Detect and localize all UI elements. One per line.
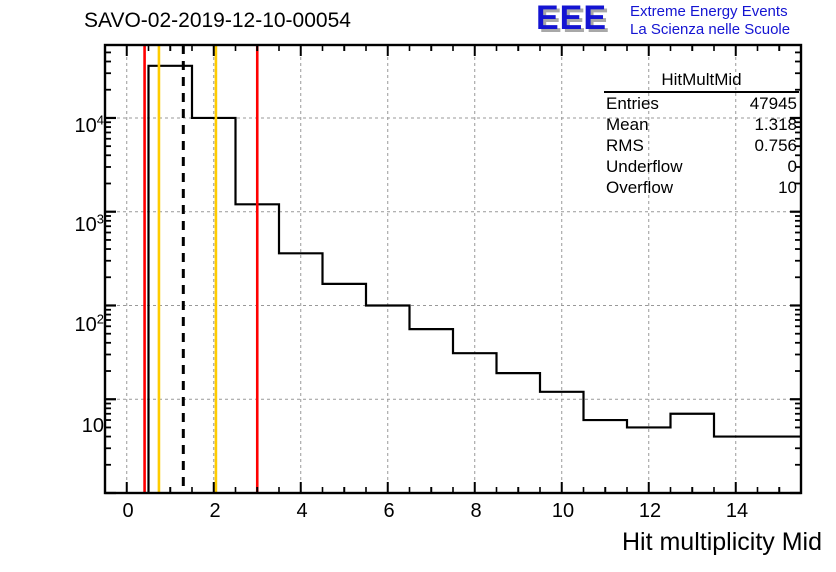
stats-row: Underflow0: [604, 156, 799, 177]
stats-box: HitMultMid Entries47945Mean1.318RMS0.756…: [604, 70, 799, 198]
stats-row-key: RMS: [606, 135, 644, 156]
stats-row-value: 1.318: [754, 114, 797, 135]
root-canvas: SAVO-02-2019-12-10-00054 EEE Extreme Ene…: [0, 0, 836, 572]
x-axis-title: Hit multiplicity Mid: [622, 528, 822, 557]
stats-row: Entries47945: [604, 93, 799, 114]
stats-row-key: Mean: [606, 114, 649, 135]
stats-row-key: Overflow: [606, 177, 673, 198]
xtick-label-4: 4: [286, 500, 318, 523]
stats-rows: Entries47945Mean1.318RMS0.756Underflow0O…: [604, 93, 799, 198]
ytick-label-1000: 103: [46, 214, 104, 237]
xtick-label-10: 10: [542, 500, 584, 523]
ytick-label-10: 10: [46, 415, 104, 438]
stats-row-value: 10: [778, 177, 797, 198]
stats-row: Overflow10: [604, 177, 799, 198]
ytick-label-100: 102: [46, 314, 104, 337]
xtick-label-2: 2: [199, 500, 231, 523]
stats-row: RMS0.756: [604, 135, 799, 156]
stats-row-key: Underflow: [606, 156, 683, 177]
xtick-label-8: 8: [460, 500, 492, 523]
xtick-label-0: 0: [112, 500, 144, 523]
xtick-label-14: 14: [716, 500, 758, 523]
xtick-label-6: 6: [373, 500, 405, 523]
ytick-label-10000: 104: [46, 115, 104, 138]
stats-title: HitMultMid: [604, 70, 799, 93]
stats-row-value: 47945: [750, 93, 797, 114]
xtick-label-12: 12: [629, 500, 671, 523]
stats-row-key: Entries: [606, 93, 659, 114]
stats-row-value: 0.756: [754, 135, 797, 156]
stats-row-value: 0: [788, 156, 797, 177]
stats-row: Mean1.318: [604, 114, 799, 135]
